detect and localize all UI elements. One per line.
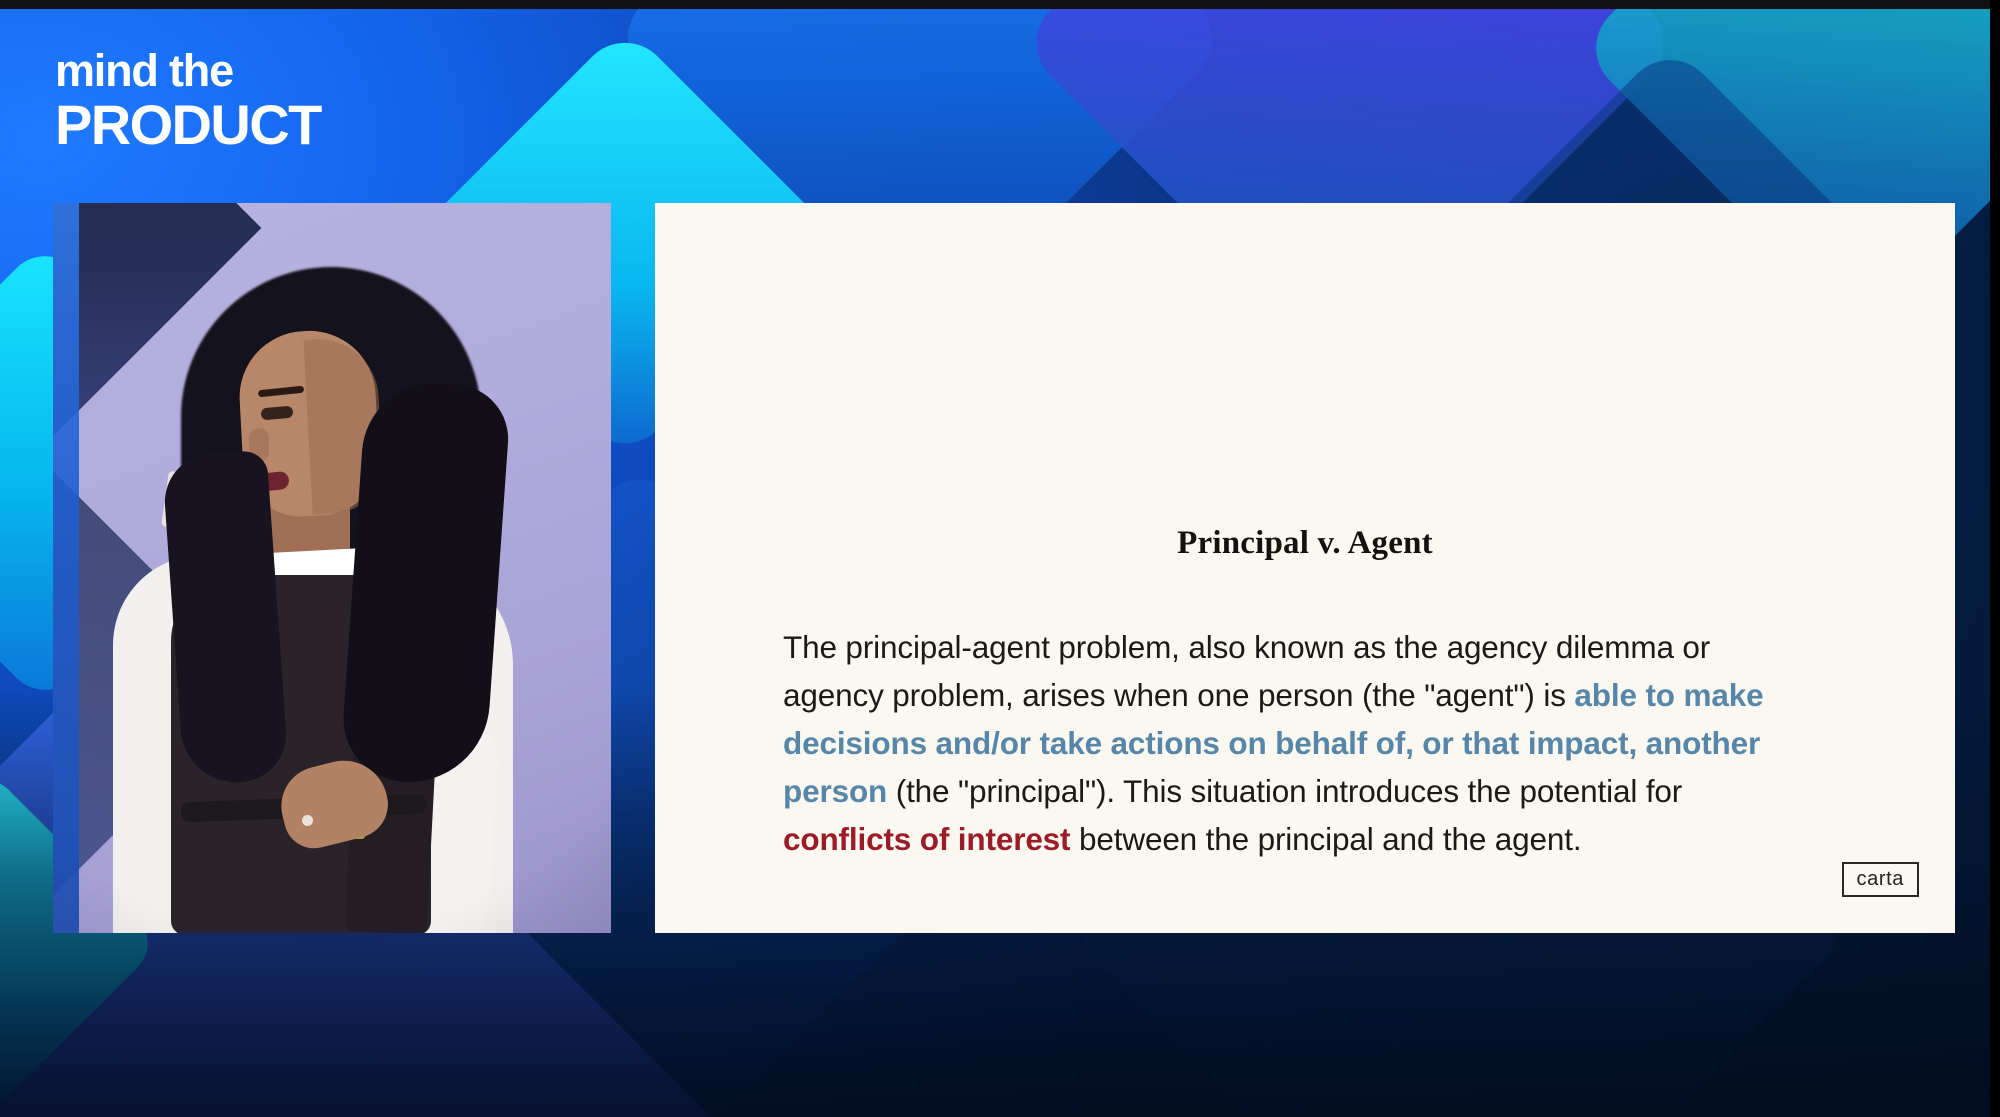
camera-vignette <box>53 203 611 933</box>
slide-text-segment-3: between the principal and the agent. <box>1070 821 1581 857</box>
slide-text-highlight-red: conflicts of interest <box>783 821 1070 857</box>
slide-text-segment-2: (the "principal"). This situation introd… <box>887 773 1682 809</box>
slide-body-text: The principal-agent problem, also known … <box>783 623 1813 863</box>
carta-logo: carta <box>1842 862 1919 897</box>
logo-line-one: mind the <box>55 48 321 93</box>
presentation-slide: Principal v. Agent The principal-agent p… <box>655 203 1955 933</box>
mind-the-product-logo: mind the PRODUCT <box>55 48 321 153</box>
letterbox-right <box>1990 0 2000 1117</box>
speaker-camera-feed <box>53 203 611 933</box>
logo-line-two: PRODUCT <box>55 97 321 153</box>
video-stage: mind the PRODUCT <box>0 0 2000 1117</box>
slide-text-segment-1: The principal-agent problem, also known … <box>783 629 1710 713</box>
slide-title: Principal v. Agent <box>655 525 1955 562</box>
letterbox-top <box>0 0 2000 9</box>
